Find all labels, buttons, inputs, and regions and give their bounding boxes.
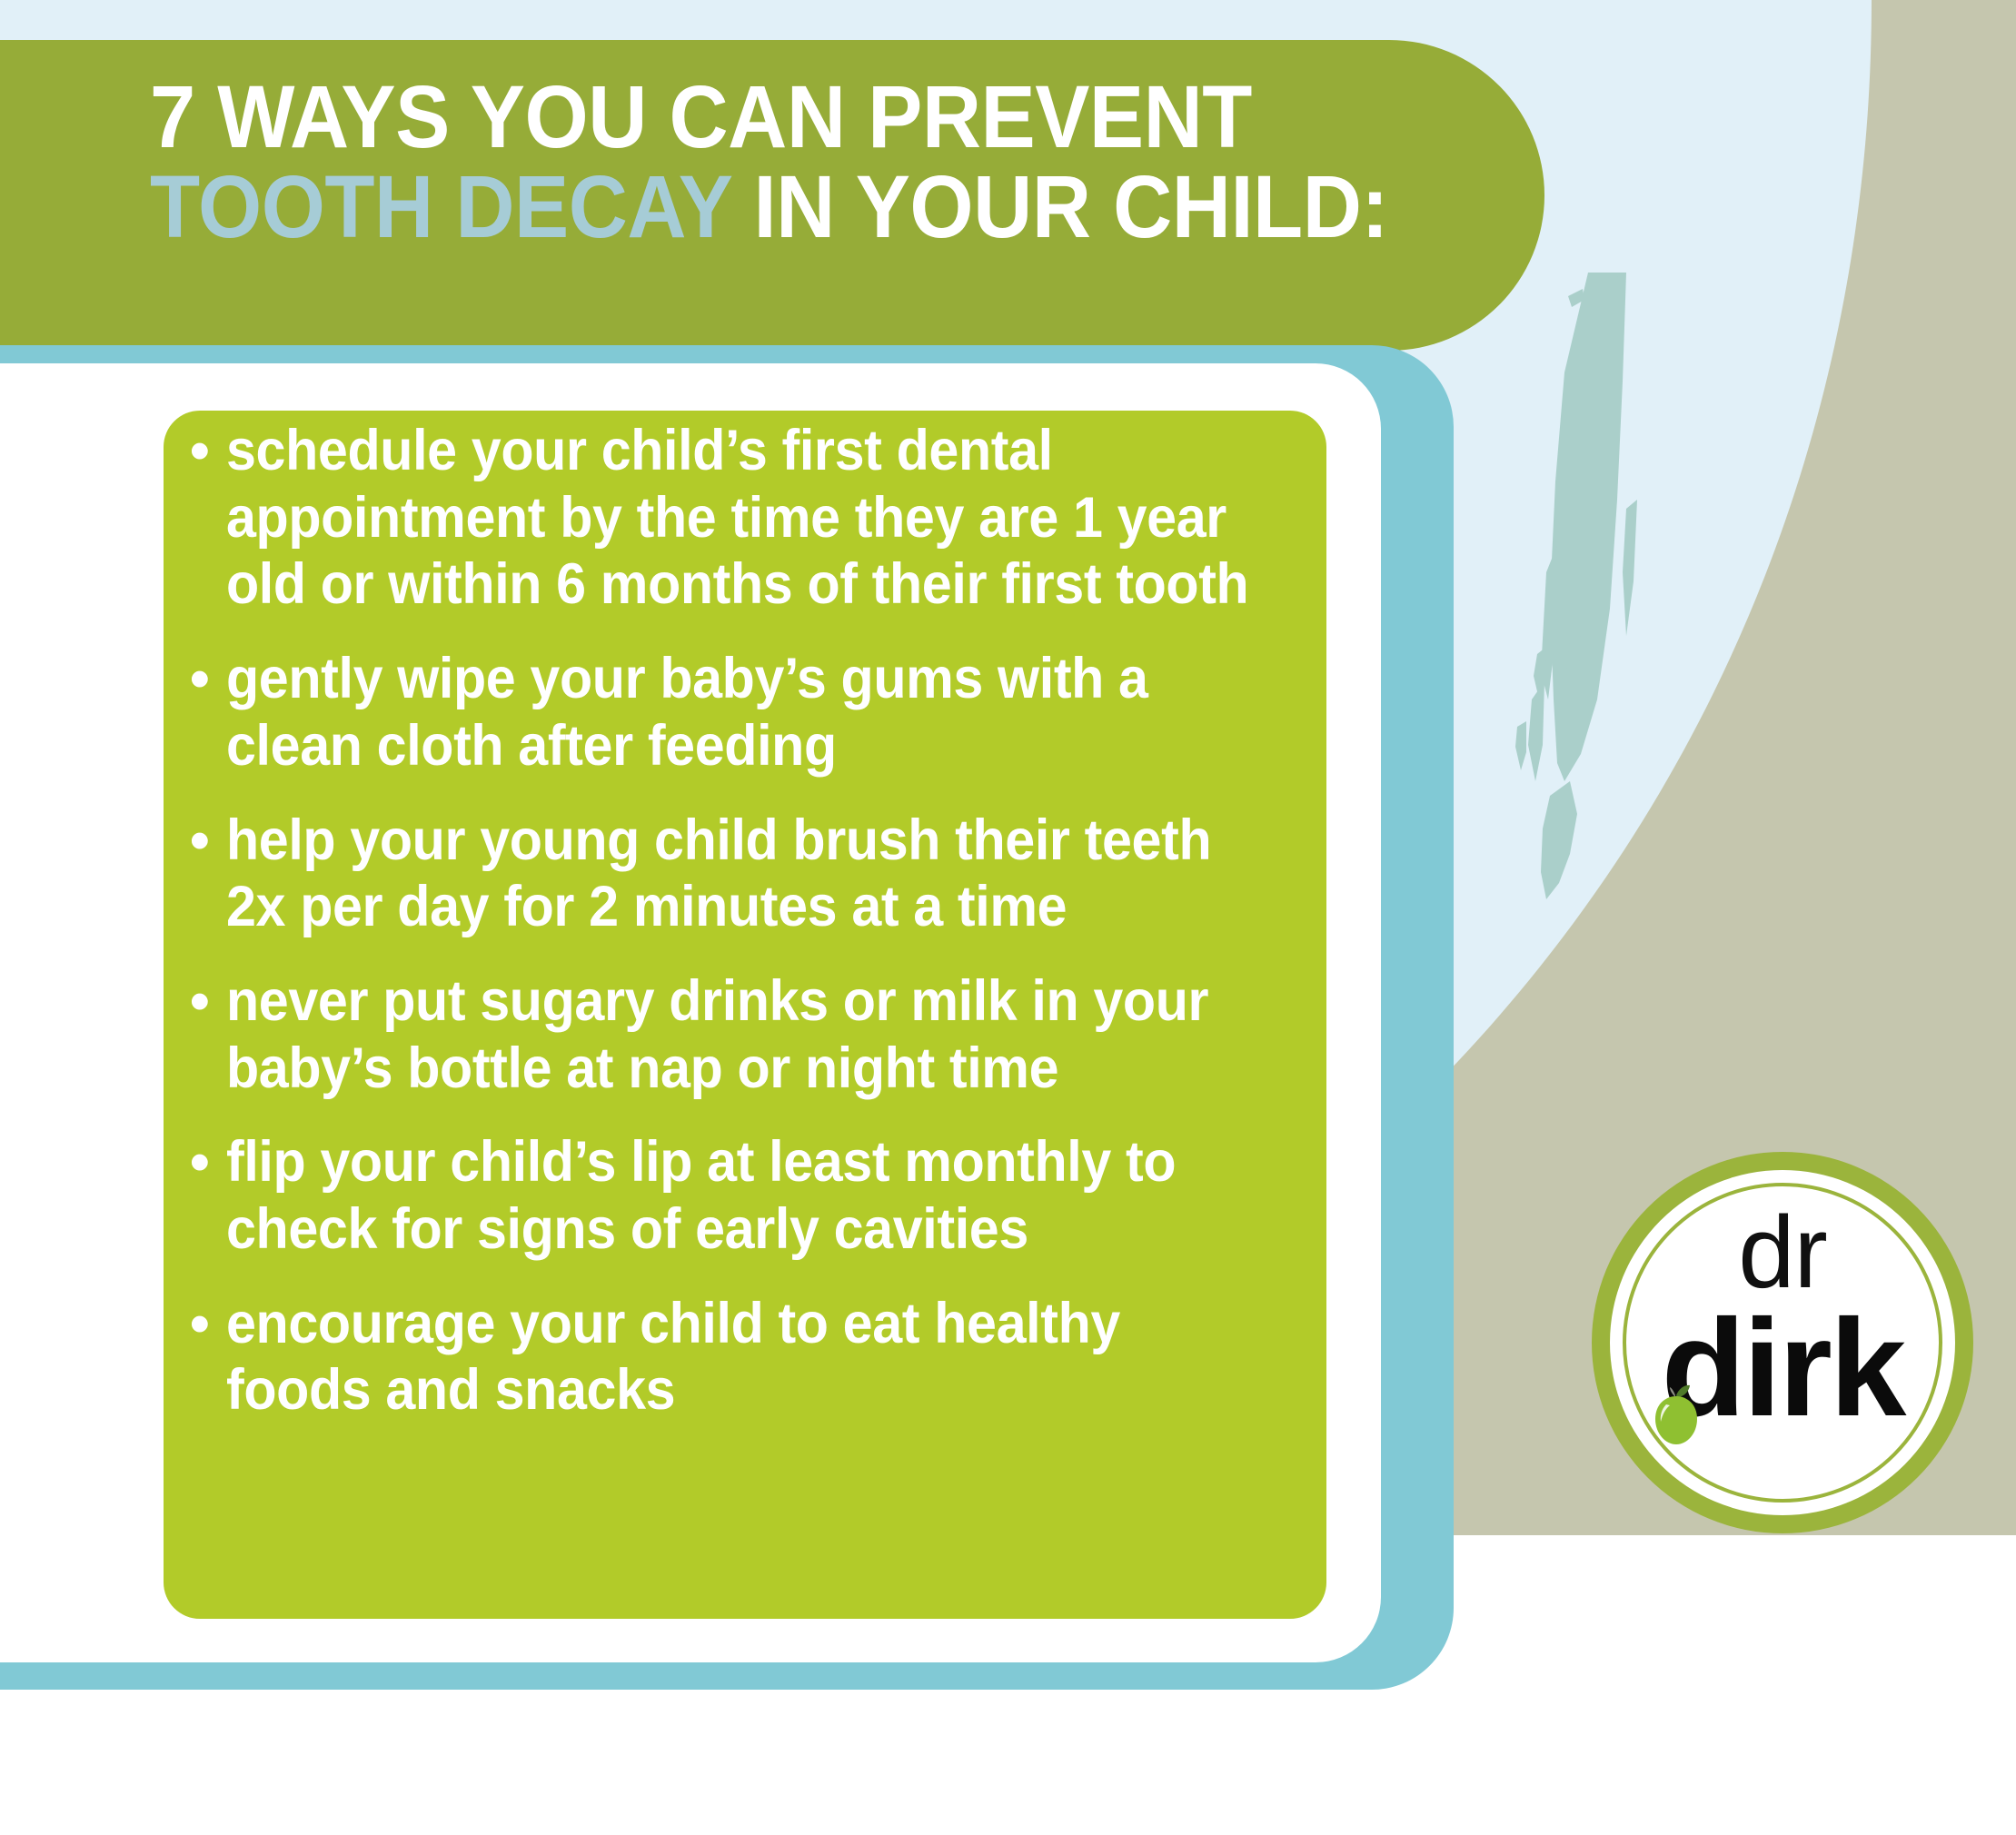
bullet-icon: • [186, 1291, 226, 1357]
dr-dirk-logo[interactable]: dr dirk [1592, 1152, 1973, 1533]
list-item: • help your young child brush their teet… [186, 808, 1322, 941]
list-item: • schedule your child’s first dental app… [186, 418, 1322, 619]
page-title-highlight: TOOTH DECAY [150, 157, 731, 256]
list-item-text: help your young child brush their teeth … [226, 808, 1256, 941]
list-item: • gently wipe your baby’s gums with a cl… [186, 646, 1322, 779]
list-item-text: never put sugary drinks or milk in your … [226, 968, 1256, 1102]
page-title: 7 WAYS YOU CAN PREVENT TOOTH DECAY IN YO… [150, 73, 1400, 253]
bullet-icon: • [186, 646, 226, 712]
list-item: • encourage your child to eat healthy fo… [186, 1291, 1322, 1424]
page-title-line-2-rest: IN YOUR CHILD: [731, 157, 1388, 256]
list-item-text: encourage your child to eat healthy food… [226, 1291, 1256, 1424]
prevention-tips-list: • schedule your child’s first dental app… [186, 418, 1322, 1452]
bullet-icon: • [186, 1129, 226, 1195]
brush-stroke-decoration [1490, 273, 1654, 908]
bullet-icon: • [186, 418, 226, 484]
list-item: • never put sugary drinks or milk in you… [186, 968, 1322, 1102]
page-title-line-2: TOOTH DECAY IN YOUR CHILD: [150, 163, 1400, 253]
page-title-line-1: 7 WAYS YOU CAN PREVENT [150, 73, 1400, 163]
list-item-text: schedule your child’s first dental appoi… [226, 418, 1256, 619]
list-item-text: gently wipe your baby’s gums with a clea… [226, 646, 1256, 779]
list-item: • flip your child’s lip at least monthly… [186, 1129, 1322, 1263]
bullet-icon: • [186, 808, 226, 874]
logo-text-dr: dr [1592, 1202, 1973, 1304]
infographic-canvas: 7 WAYS YOU CAN PREVENT TOOTH DECAY IN YO… [0, 0, 2016, 1835]
bullet-icon: • [186, 968, 226, 1035]
apple-icon [1643, 1381, 1710, 1448]
list-item-text: flip your child’s lip at least monthly t… [226, 1129, 1256, 1263]
